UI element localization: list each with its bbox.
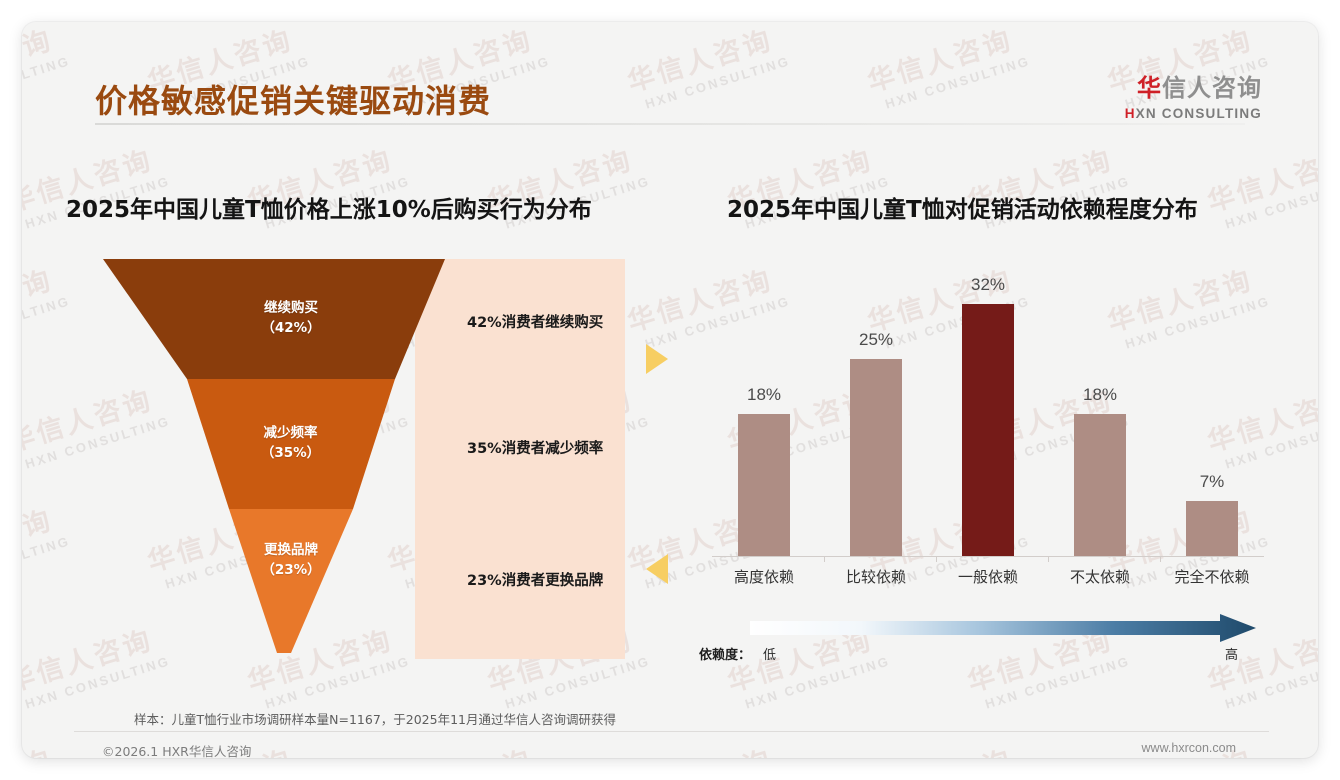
funnel-segment-2[interactable] [229, 509, 353, 653]
logo-english: HXN CONSULTING [1125, 106, 1262, 121]
axis-tick [1160, 556, 1161, 562]
bar-rect[interactable] [1186, 501, 1238, 556]
bar-rect[interactable] [850, 359, 902, 556]
bar-category-label: 完全不依赖 [1156, 566, 1268, 587]
watermark-tile: 华信人咨询HXN CONSULTING [382, 735, 552, 758]
bar-column[interactable]: 18% [708, 280, 820, 556]
axis-tick [1048, 556, 1049, 562]
watermark-tile: 华信人咨询HXN CONSULTING [22, 255, 72, 355]
footnote: 样本：儿童T恤行业市场调研样本量N=1167，于2025年11月通过华信人咨询调… [134, 709, 616, 728]
legend-high-label: 高 [1225, 644, 1238, 663]
watermark-tile: 华信人咨询HXN CONSULTING [1202, 135, 1318, 235]
bar-value-label: 7% [1200, 472, 1225, 492]
funnel-label-name: 继续购买 [191, 299, 391, 319]
axis-tick [824, 556, 825, 562]
bar-column[interactable]: 7% [1156, 280, 1268, 556]
funnel-label-1: 减少频率（35%） [213, 424, 368, 463]
brand-logo: 华信人咨询 HXN CONSULTING [1125, 68, 1262, 121]
funnel-label-pct: （42%） [191, 319, 391, 339]
triangle-left-icon [644, 552, 670, 586]
bar-rect[interactable] [738, 414, 790, 556]
triangle-right-icon [644, 342, 670, 376]
footer-copyright: ©2026.1 HXR华信人咨询 [102, 741, 251, 758]
bar-category-label: 比较依赖 [820, 566, 932, 587]
bar-value-label: 32% [971, 275, 1005, 295]
bar-chart-axis [712, 556, 1264, 557]
logo-cn-red: 华 [1137, 74, 1162, 102]
legend-low-label: 低 [763, 644, 776, 663]
bar-value-label: 18% [1083, 385, 1117, 405]
logo-cn-gray: 信人咨询 [1162, 74, 1262, 102]
bar-category-label: 高度依赖 [708, 566, 820, 587]
watermark-tile: 华信人咨询HXN CONSULTING [22, 735, 72, 758]
bar-rect[interactable] [962, 304, 1014, 556]
funnel-note-2: 23%消费者更换品牌 [467, 569, 603, 590]
funnel-label-pct: （35%） [213, 444, 368, 464]
footer-website: www.hxrcon.com [1142, 741, 1236, 755]
funnel-label-pct: （23%） [235, 561, 347, 581]
bar-column[interactable]: 25% [820, 280, 932, 556]
watermark-tile: 华信人咨询HXN CONSULTING [22, 495, 72, 595]
logo-en-gray: XN CONSULTING [1136, 106, 1262, 121]
left-chart-title: 2025年中国儿童T恤价格上涨10%后购买行为分布 [66, 190, 592, 224]
logo-chinese: 华信人咨询 [1125, 68, 1262, 103]
funnel-note-1: 35%消费者减少频率 [467, 437, 603, 458]
bar-category-label: 一般依赖 [932, 566, 1044, 587]
bar-value-label: 25% [859, 330, 893, 350]
funnel-chart: 继续购买（42%） 减少频率（35%） 更换品牌（23%） 42%消费者继续购买… [95, 259, 625, 659]
bar-rect[interactable] [1074, 414, 1126, 556]
page-title: 价格敏感促销关键驱动消费 [95, 76, 491, 122]
dependency-gradient-legend: 依赖度： 低 高 [708, 614, 1268, 670]
bar-column[interactable]: 18% [1044, 280, 1156, 556]
bar-column[interactable]: 32% [932, 280, 1044, 556]
right-chart-title: 2025年中国儿童T恤对促销活动依赖程度分布 [727, 190, 1198, 224]
slide-header: 价格敏感促销关键驱动消费 华信人咨询 HXN CONSULTING [22, 22, 1318, 116]
funnel-label-name: 更换品牌 [235, 541, 347, 561]
watermark-tile: 华信人咨询HXN CONSULTING [862, 735, 1032, 758]
bar-category-label: 不太依赖 [1044, 566, 1156, 587]
legend-label: 依赖度： [699, 644, 751, 663]
axis-tick [936, 556, 937, 562]
bar-chart-plot: 18%25%32%18%7% [708, 280, 1268, 556]
slide-canvas: 华信人咨询HXN CONSULTING华信人咨询HXN CONSULTING华信… [22, 22, 1318, 758]
funnel-note-0: 42%消费者继续购买 [467, 311, 603, 332]
gradient-arrow-icon [708, 614, 1268, 644]
footer-divider [74, 731, 1269, 732]
funnel-label-2: 更换品牌（23%） [235, 541, 347, 580]
watermark-tile: 华信人咨询HXN CONSULTING [622, 735, 792, 758]
header-divider [95, 123, 1245, 125]
funnel-label-0: 继续购买（42%） [191, 299, 391, 338]
logo-en-red: H [1125, 106, 1136, 121]
bar-value-label: 18% [747, 385, 781, 405]
funnel-label-name: 减少频率 [213, 424, 368, 444]
